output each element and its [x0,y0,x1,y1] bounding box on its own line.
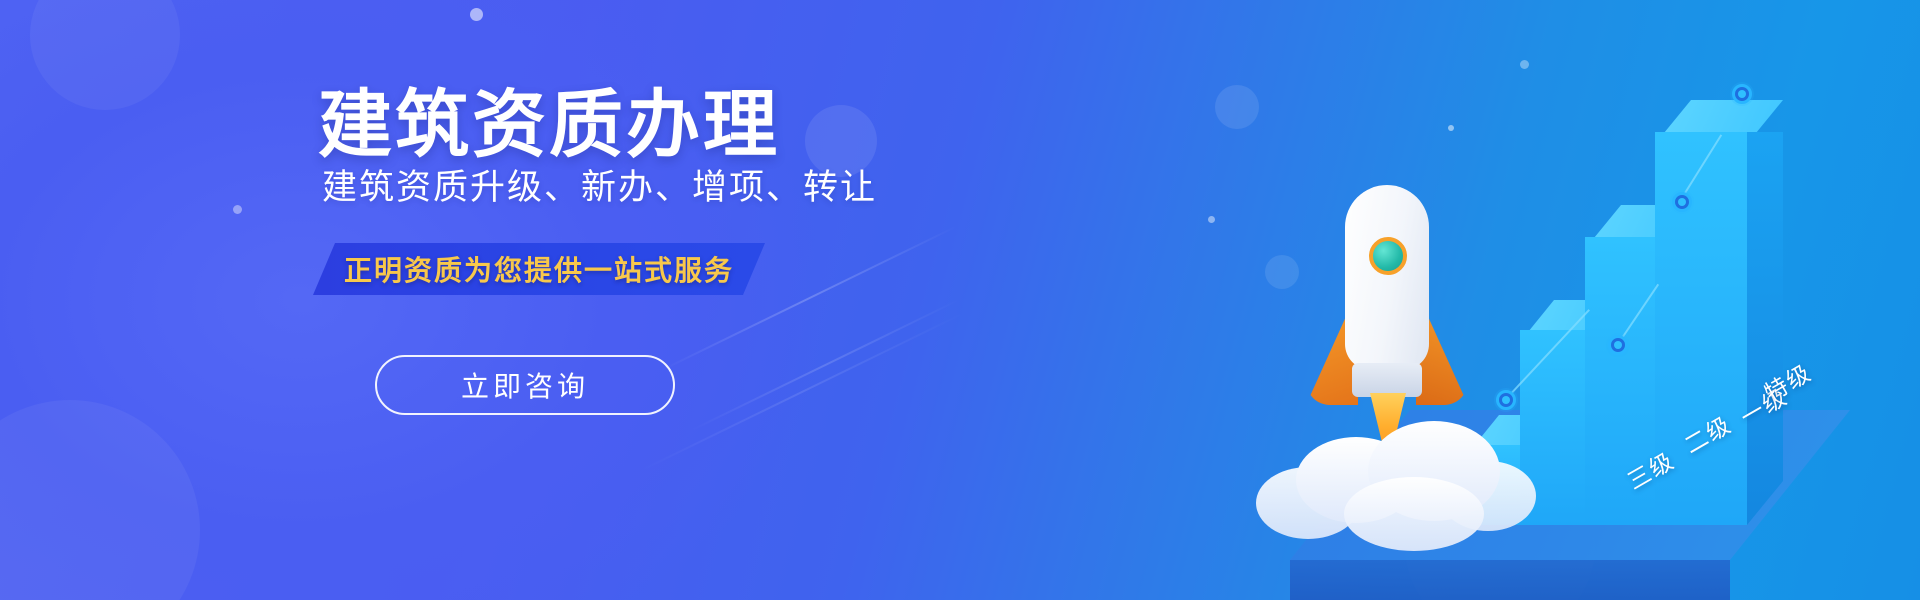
rocket-body [1345,185,1429,370]
decor-dot-4 [1448,125,1454,131]
rocket-icon [1290,185,1500,515]
trend-node-core [1502,396,1510,404]
consult-now-label: 立即咨询 [461,365,589,405]
chart-platform-face [1290,560,1730,600]
trend-node-core [1614,341,1622,349]
trend-node-core [1678,198,1686,206]
trend-node-core [1738,90,1746,98]
trend-node-2 [1608,335,1628,355]
decor-dot-5 [1520,60,1529,69]
promo-banner: 建筑资质办理 建筑资质升级、新办、增项、转让 正明资质为您提供一站式服务 立即咨… [0,0,1920,600]
rocket-window [1369,237,1407,275]
consult-now-button[interactable]: 立即咨询 [375,355,675,415]
bar-side-face [1747,132,1783,525]
trend-node-3 [1672,192,1692,212]
trend-node-4 [1732,84,1752,104]
rocket-base [1352,363,1422,397]
cloud-puff-5 [1344,477,1484,551]
growth-chart: 三级 二级 一级 特级 [640,0,1360,600]
